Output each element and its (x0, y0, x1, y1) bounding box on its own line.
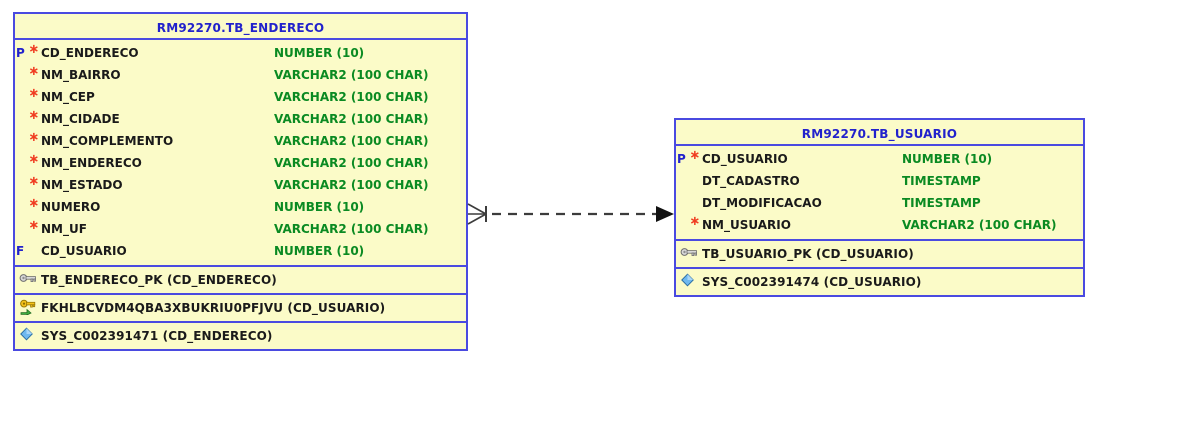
column-name: NM_USUARIO (702, 218, 791, 232)
column-name: NM_CEP (41, 90, 95, 104)
column-row[interactable]: P∗CD_ENDERECONUMBER (10) (15, 42, 466, 64)
column-row[interactable]: ∗NM_UFVARCHAR2 (100 CHAR) (15, 218, 466, 240)
column-name: NM_CIDADE (41, 112, 120, 126)
relationship-connector[interactable] (460, 196, 690, 236)
column-list: P∗CD_ENDERECONUMBER (10)∗NM_BAIRROVARCHA… (15, 40, 466, 267)
foreign-key-icon (19, 299, 41, 317)
column-name: NM_ESTADO (41, 178, 123, 192)
column-key-indicator: P (15, 46, 27, 60)
column-required-marker: ∗ (27, 89, 41, 99)
column-required-marker: ∗ (27, 133, 41, 143)
column-row[interactable]: ∗NM_CIDADEVARCHAR2 (100 CHAR) (15, 108, 466, 130)
column-row[interactable]: P∗CD_USUARIONUMBER (10) (676, 148, 1083, 170)
column-name: NUMERO (41, 200, 100, 214)
entity-title: RM92270.TB_ENDERECO (15, 14, 466, 40)
constraint-group: TB_USUARIO_PK (CD_USUARIO) (676, 241, 1083, 269)
column-row[interactable]: ∗NM_USUARIOVARCHAR2 (100 CHAR) (676, 214, 1083, 236)
entity-title: RM92270.TB_USUARIO (676, 120, 1083, 146)
entity-tb_usuario[interactable]: RM92270.TB_USUARIOP∗CD_USUARIONUMBER (10… (674, 118, 1085, 297)
column-required-marker: ∗ (27, 199, 41, 209)
primary-key-icon (19, 271, 41, 289)
primary-key-icon (680, 245, 702, 263)
constraint-row[interactable]: FKHLBCVDM4QBA3XBUKRIU0PFJVU (CD_USUARIO) (15, 297, 466, 319)
column-required-marker: ∗ (27, 111, 41, 121)
column-required-marker: ∗ (27, 45, 41, 55)
column-key-indicator: P (676, 152, 688, 166)
column-datatype: NUMBER (10) (274, 196, 364, 218)
column-name: NM_UF (41, 222, 87, 236)
column-key-indicator: F (15, 244, 27, 258)
column-datatype: VARCHAR2 (100 CHAR) (274, 86, 428, 108)
column-datatype: VARCHAR2 (100 CHAR) (274, 130, 428, 152)
column-datatype: NUMBER (10) (902, 148, 992, 170)
column-datatype: VARCHAR2 (100 CHAR) (274, 174, 428, 196)
column-required-marker: ∗ (27, 155, 41, 165)
column-name: CD_USUARIO (41, 244, 127, 258)
constraint-group: SYS_C002391471 (CD_ENDERECO) (15, 323, 466, 349)
column-name: NM_COMPLEMENTO (41, 134, 173, 148)
constraint-row[interactable]: TB_ENDERECO_PK (CD_ENDERECO) (15, 269, 466, 291)
column-datatype: VARCHAR2 (100 CHAR) (274, 64, 428, 86)
constraint-group: FKHLBCVDM4QBA3XBUKRIU0PFJVU (CD_USUARIO) (15, 295, 466, 323)
column-row[interactable]: FCD_USUARIONUMBER (10) (15, 240, 466, 262)
column-datatype: NUMBER (10) (274, 42, 364, 64)
column-datatype: VARCHAR2 (100 CHAR) (274, 152, 428, 174)
column-row[interactable]: DT_CADASTROTIMESTAMP (676, 170, 1083, 192)
column-datatype: NUMBER (10) (274, 240, 364, 262)
index-icon (19, 327, 41, 345)
constraint-row[interactable]: SYS_C002391471 (CD_ENDERECO) (15, 325, 466, 347)
index-icon (680, 273, 702, 291)
constraint-label: FKHLBCVDM4QBA3XBUKRIU0PFJVU (CD_USUARIO) (41, 301, 385, 315)
column-datatype: TIMESTAMP (902, 170, 981, 192)
column-name: NM_BAIRRO (41, 68, 121, 82)
column-row[interactable]: ∗NM_CEPVARCHAR2 (100 CHAR) (15, 86, 466, 108)
column-datatype: TIMESTAMP (902, 192, 981, 214)
column-name: DT_CADASTRO (702, 174, 800, 188)
constraint-label: SYS_C002391471 (CD_ENDERECO) (41, 329, 273, 343)
column-name: CD_ENDERECO (41, 46, 139, 60)
constraint-row[interactable]: SYS_C002391474 (CD_USUARIO) (676, 271, 1083, 293)
column-name: NM_ENDERECO (41, 156, 142, 170)
column-row[interactable]: ∗NM_ESTADOVARCHAR2 (100 CHAR) (15, 174, 466, 196)
column-name: CD_USUARIO (702, 152, 788, 166)
column-row[interactable]: ∗NUMERONUMBER (10) (15, 196, 466, 218)
column-required-marker: ∗ (27, 67, 41, 77)
column-row[interactable]: ∗NM_BAIRROVARCHAR2 (100 CHAR) (15, 64, 466, 86)
column-datatype: VARCHAR2 (100 CHAR) (274, 218, 428, 240)
column-required-marker: ∗ (27, 177, 41, 187)
constraint-row[interactable]: TB_USUARIO_PK (CD_USUARIO) (676, 243, 1083, 265)
constraint-label: TB_ENDERECO_PK (CD_ENDERECO) (41, 273, 277, 287)
column-name: DT_MODIFICACAO (702, 196, 822, 210)
column-required-marker: ∗ (688, 217, 702, 227)
arrow-head-marker (656, 206, 674, 222)
column-datatype: VARCHAR2 (100 CHAR) (274, 108, 428, 130)
column-row[interactable]: ∗NM_COMPLEMENTOVARCHAR2 (100 CHAR) (15, 130, 466, 152)
column-required-marker: ∗ (27, 221, 41, 231)
constraint-label: SYS_C002391474 (CD_USUARIO) (702, 275, 922, 289)
column-row[interactable]: ∗NM_ENDERECOVARCHAR2 (100 CHAR) (15, 152, 466, 174)
column-datatype: VARCHAR2 (100 CHAR) (902, 214, 1056, 236)
constraint-group: TB_ENDERECO_PK (CD_ENDERECO) (15, 267, 466, 295)
crows-foot-marker (468, 204, 486, 224)
column-row[interactable]: DT_MODIFICACAOTIMESTAMP (676, 192, 1083, 214)
constraint-label: TB_USUARIO_PK (CD_USUARIO) (702, 247, 914, 261)
column-required-marker: ∗ (688, 151, 702, 161)
column-list: P∗CD_USUARIONUMBER (10)DT_CADASTROTIMEST… (676, 146, 1083, 241)
constraint-group: SYS_C002391474 (CD_USUARIO) (676, 269, 1083, 295)
entity-tb_endereco[interactable]: RM92270.TB_ENDERECOP∗CD_ENDERECONUMBER (… (13, 12, 468, 351)
